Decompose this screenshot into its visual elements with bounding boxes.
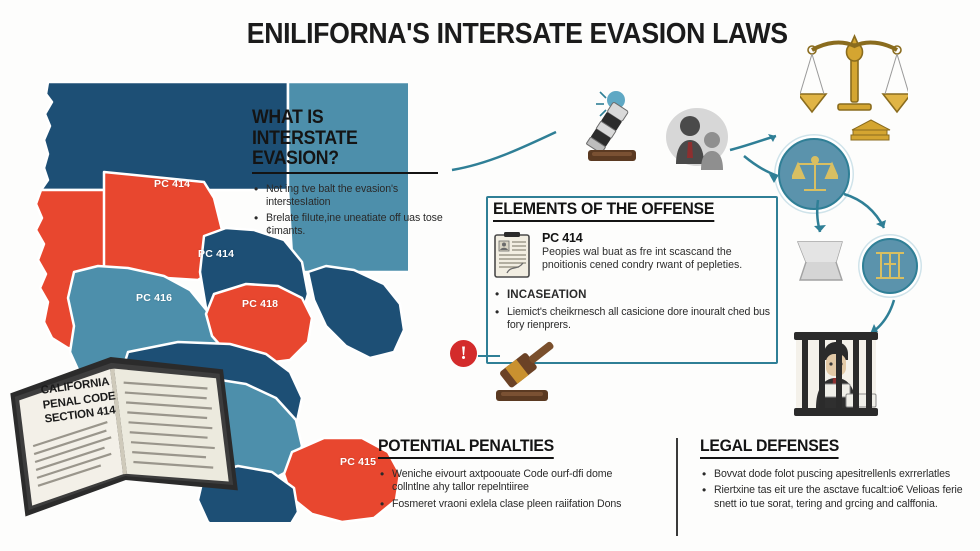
connector-arrow-left [448, 118, 578, 178]
elements-bullet-list: INCASEATION Liemict's cheikrnesch all ca… [493, 288, 771, 332]
gavel-icon [482, 340, 564, 406]
section-divider [676, 438, 678, 536]
defenses-bullet-list: Bovvat dode folot puscing apesitrellenls… [700, 468, 968, 510]
alert-exclamation-icon: ! [450, 340, 477, 367]
elements-item-title: PC 414 [542, 231, 771, 245]
list-item: Fosmeret vraoni exlela clase pleen raiif… [378, 498, 640, 511]
section-legal-defenses: LEGAL DEFENSES Bovvat dode folot puscing… [700, 437, 968, 514]
elements-item-body: Peopies wal buat as fre int scascand the… [542, 246, 771, 272]
defenses-heading: LEGAL DEFENSES [700, 437, 839, 459]
penalties-bullet-list: Weniche eivourt axtpoouate Code ourf-dfi… [378, 468, 640, 510]
incaseation-label: INCASEATION [507, 289, 586, 301]
microphone-icon [566, 88, 646, 168]
section-elements-of-the-offense: ELEMENTS OF THE OFFENSE [493, 200, 771, 335]
list-item: Riertxine tas eit ure the asctave fucalt… [700, 484, 968, 510]
elements-item-pc414: PC 414 Peopies wal buat as fre int scasc… [493, 231, 771, 279]
list-item: Not ing tve balt the evasion's interstes… [252, 183, 452, 209]
list-item: INCASEATION [493, 288, 771, 302]
courthouse-icon [848, 118, 894, 142]
list-item: Brelate ﬁIute,ine uneatiate off uas tose… [252, 212, 452, 238]
prisoner-behind-bars-icon [790, 330, 882, 422]
list-item: Weniche eivourt axtpoouate Code ourf-dfi… [378, 468, 640, 494]
connector-arrow-down [806, 198, 836, 242]
document-clipboard-icon [493, 231, 533, 279]
scales-of-justice-icon [800, 22, 908, 118]
list-item: Liemict's cheikrnesch all casicione dore… [493, 306, 771, 332]
infographic-canvas: ENILIFORNA'S INTERSATE EVASION LAWS [0, 0, 980, 551]
badge-jail-bars-glyph [872, 248, 908, 284]
stone-block-icon [792, 238, 848, 284]
elements-heading: ELEMENTS OF THE OFFENSE [493, 200, 714, 222]
connector-arrow-right-down [842, 190, 900, 242]
what-is-bullet-list: Not ing tve balt the evasion's interstes… [252, 183, 452, 239]
section-potential-penalties: POTENTIAL PENALTIES Weniche eivourt axtp… [378, 437, 640, 514]
what-is-heading: WHAT IS INTERSTATE EVASION? [252, 108, 438, 174]
penalties-heading: POTENTIAL PENALTIES [378, 437, 554, 459]
list-item: Bovvat dode folot puscing apesitrellenls… [700, 468, 968, 481]
connector-arrow-inbound [742, 150, 786, 190]
penal-code-book-icon [8, 338, 238, 528]
badge-scales-glyph [792, 152, 838, 198]
family-figures-icon [666, 108, 734, 170]
section-what-is-interstate-evasion: WHAT IS INTERSTATE EVASION? Not ing tve … [252, 108, 452, 241]
